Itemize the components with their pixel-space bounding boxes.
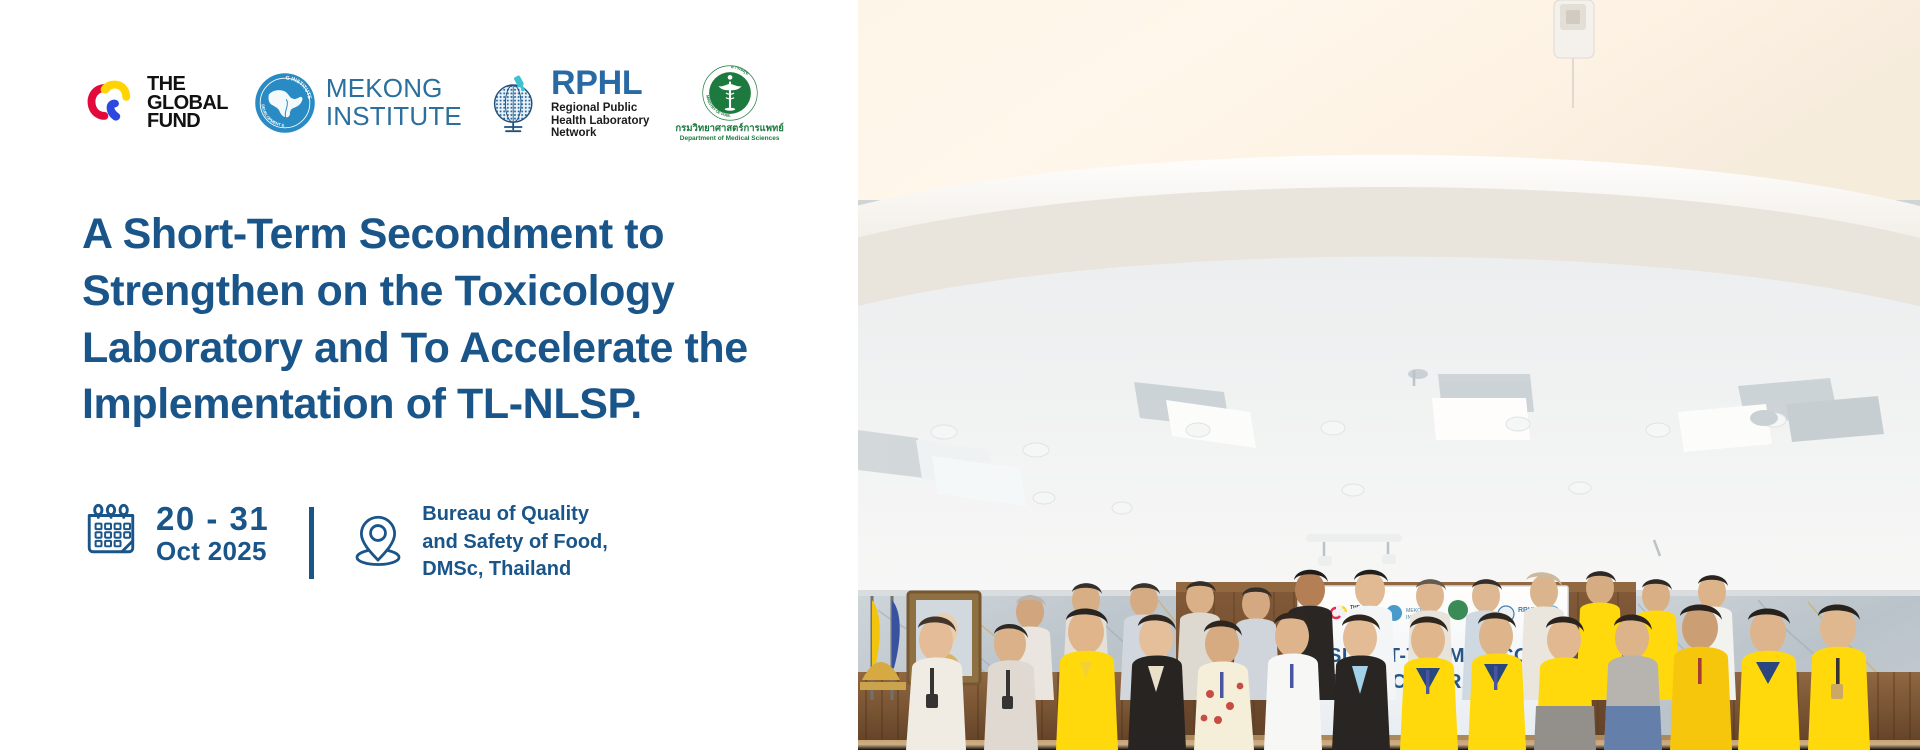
mekong-institute-seal-icon: MEKONG INSTITUTE DEVELOPMENT & COOPERATI… <box>254 72 316 134</box>
dmsc-english-name: Department of Medical Sciences <box>675 135 783 142</box>
dmsc-seal-icon: กระทรวงสาธารณสุข MINISTRY OF PUBLIC HEAL… <box>701 64 759 122</box>
logo-mekong-institute: MEKONG INSTITUTE DEVELOPMENT & COOPERATI… <box>254 72 462 134</box>
rphl-sub-3: Network <box>551 127 649 140</box>
logo-rphl: RPHL Regional Public Health Laboratory N… <box>488 66 649 141</box>
venue-line-1: Bureau of Quality <box>422 501 608 529</box>
event-group-photo: THE GLOBAL FUND MEKONG INSTITUTE RPHL SH… <box>858 0 1920 750</box>
page-title: A Short-Term Secondment to Strengthen on… <box>82 206 762 433</box>
rphl-sub-1: Regional Public <box>551 102 649 115</box>
event-venue-text: Bureau of Quality and Safety of Food, DM… <box>422 501 608 584</box>
event-date-month-year: Oct 2025 <box>156 537 269 565</box>
rphl-title: RPHL <box>551 66 649 100</box>
event-date-block: 20 - 31 Oct 2025 <box>82 501 269 565</box>
mi-line-1: MEKONG <box>326 75 462 103</box>
gf-line-1: THE <box>147 75 228 94</box>
rphl-wordmark: RPHL Regional Public Health Laboratory N… <box>551 66 649 141</box>
logo-dmsc: กระทรวงสาธารณสุข MINISTRY OF PUBLIC HEAL… <box>675 64 783 142</box>
gf-line-3: FUND <box>147 112 228 131</box>
global-fund-wordmark: THE GLOBAL FUND <box>147 75 228 131</box>
global-fund-mark-icon <box>82 75 138 131</box>
venue-line-2: and Safety of Food, <box>422 529 608 557</box>
rphl-sub-2: Health Laboratory <box>551 115 649 128</box>
mekong-institute-wordmark: MEKONG INSTITUTE <box>326 75 462 130</box>
event-venue-block: Bureau of Quality and Safety of Food, DM… <box>350 501 608 584</box>
event-meta-row: 20 - 31 Oct 2025 Bureau of Q <box>82 501 858 584</box>
location-pin-icon <box>350 511 406 574</box>
event-date-text: 20 - 31 Oct 2025 <box>156 501 269 565</box>
mi-line-2: INSTITUTE <box>326 103 462 131</box>
left-content-panel: THE GLOBAL FUND <box>0 0 858 750</box>
event-banner: THE GLOBAL FUND <box>0 0 1920 750</box>
venue-line-3: DMSc, Thailand <box>422 556 608 584</box>
dmsc-wordmark: กรมวิทยาศาสตร์การแพทย์ Department of Med… <box>675 124 783 142</box>
rphl-globe-microscope-icon <box>488 70 542 136</box>
calendar-icon <box>82 501 140 564</box>
logo-the-global-fund: THE GLOBAL FUND <box>82 75 228 131</box>
event-date-days: 20 - 31 <box>156 501 269 537</box>
partner-logo-strip: THE GLOBAL FUND <box>82 62 858 144</box>
meta-divider <box>309 507 314 579</box>
dmsc-thai-name: กรมวิทยาศาสตร์การแพทย์ <box>675 124 783 134</box>
rphl-subtitle: Regional Public Health Laboratory Networ… <box>551 102 649 141</box>
